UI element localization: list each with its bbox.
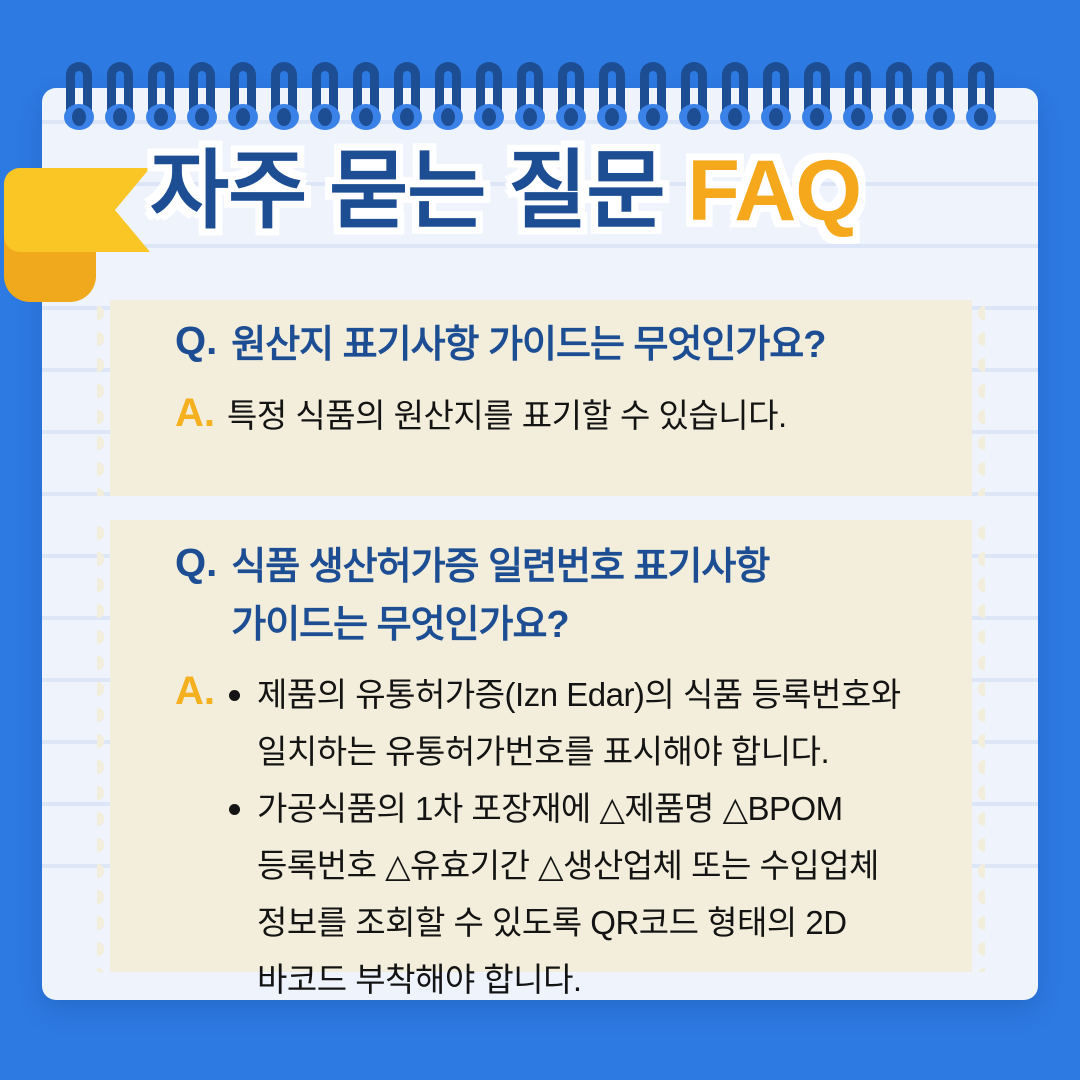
spiral-ring bbox=[435, 62, 461, 124]
spiral-ring bbox=[927, 62, 953, 124]
ring-pin bbox=[564, 108, 578, 126]
spiral-ring bbox=[66, 62, 92, 124]
spiral-ring bbox=[722, 62, 748, 124]
ring-pin bbox=[605, 108, 619, 126]
spiral-ring bbox=[804, 62, 830, 124]
ribbon-banner bbox=[0, 168, 160, 272]
answer-text: 특정 식품의 원산지를 표기할 수 있습니다. bbox=[227, 388, 787, 444]
answer-bullet-list: 제품의 유통허가증(Izn Edar)의 식품 등록번호와 일치하는 유통허가번… bbox=[227, 666, 901, 1008]
rule-line bbox=[42, 244, 1038, 248]
spiral-ring bbox=[968, 62, 994, 124]
spiral-ring bbox=[271, 62, 297, 124]
question-row: Q. 원산지 표기사항 가이드는 무엇인가요? bbox=[175, 316, 825, 374]
answer-marker: A. bbox=[175, 666, 215, 716]
bullet-line: 바코드 부착해야 합니다. bbox=[257, 961, 582, 998]
spiral-ring bbox=[148, 62, 174, 124]
bullet-line: 등록번호 △유효기간 △생산업체 또는 수입업체 bbox=[257, 847, 879, 884]
ring-pin bbox=[933, 108, 947, 126]
spiral-ring bbox=[681, 62, 707, 124]
answer-row: A. 제품의 유통허가증(Izn Edar)의 식품 등록번호와 일치하는 유통… bbox=[175, 666, 901, 1008]
bullet-line: 제품의 유통허가증(Izn Edar)의 식품 등록번호와 bbox=[257, 676, 901, 713]
ring-pin bbox=[687, 108, 701, 126]
ring-pin bbox=[974, 108, 988, 126]
spiral-ring bbox=[189, 62, 215, 124]
faq-item-1: Q. 원산지 표기사항 가이드는 무엇인가요? A. 특정 식품의 원산지를 표… bbox=[175, 316, 825, 444]
question-text: 원산지 표기사항 가이드는 무엇인가요? bbox=[231, 316, 825, 374]
ring-pin bbox=[892, 108, 906, 126]
ring-pin bbox=[277, 108, 291, 126]
ring-pin bbox=[154, 108, 168, 126]
spiral-ring bbox=[599, 62, 625, 124]
ring-pin bbox=[769, 108, 783, 126]
ring-pin bbox=[851, 108, 865, 126]
ring-pin bbox=[523, 108, 537, 126]
list-item: 제품의 유통허가증(Izn Edar)의 식품 등록번호와 일치하는 유통허가번… bbox=[257, 666, 901, 780]
spiral-ring bbox=[640, 62, 666, 124]
ring-pin bbox=[318, 108, 332, 126]
ring-pin bbox=[728, 108, 742, 126]
spiral-ring bbox=[845, 62, 871, 124]
faq-item-2: Q. 식품 생산허가증 일련번호 표기사항 가이드는 무엇인가요? A. 제품의… bbox=[175, 538, 901, 1008]
title-accent-faq: FAQ bbox=[687, 143, 861, 239]
page-title: 자주 묻는 질문 FAQ bbox=[150, 148, 861, 234]
bullet-line: 가공식품의 1차 포장재에 △제품명 △BPOM bbox=[257, 790, 843, 827]
spiral-ring bbox=[886, 62, 912, 124]
question-line-1: 식품 생산허가증 일련번호 표기사항 bbox=[231, 546, 769, 588]
bullet-line: 일치하는 유통허가번호를 표시해야 합니다. bbox=[257, 733, 829, 770]
ring-pin bbox=[359, 108, 373, 126]
question-text: 식품 생산허가증 일련번호 표기사항 가이드는 무엇인가요? bbox=[231, 538, 769, 654]
question-marker: Q. bbox=[175, 538, 217, 588]
ring-pin bbox=[195, 108, 209, 126]
spiral-ring bbox=[312, 62, 338, 124]
list-item: 가공식품의 1차 포장재에 △제품명 △BPOM 등록번호 △유효기간 △생산업… bbox=[257, 780, 901, 1008]
answer-row: A. 특정 식품의 원산지를 표기할 수 있습니다. bbox=[175, 388, 825, 444]
spiral-ring bbox=[517, 62, 543, 124]
ring-pin bbox=[72, 108, 86, 126]
title-main: 자주 묻는 질문 bbox=[150, 143, 687, 239]
bullet-line: 정보를 조회할 수 있도록 QR코드 형태의 2D bbox=[257, 904, 847, 941]
spiral-ring bbox=[353, 62, 379, 124]
spiral-ring bbox=[476, 62, 502, 124]
infographic-canvas: 자주 묻는 질문 FAQ Q. 원산지 표기사항 가이드는 무엇인가요? A. … bbox=[0, 0, 1080, 1080]
ring-pin bbox=[646, 108, 660, 126]
spiral-ring bbox=[763, 62, 789, 124]
answer-marker: A. bbox=[175, 388, 215, 438]
ring-pin bbox=[113, 108, 127, 126]
spiral-binding bbox=[0, 0, 1080, 160]
question-marker: Q. bbox=[175, 316, 217, 366]
torn-edge-left bbox=[97, 300, 111, 496]
spiral-ring bbox=[107, 62, 133, 124]
ring-pin bbox=[810, 108, 824, 126]
ring-pin bbox=[400, 108, 414, 126]
ring-pin bbox=[236, 108, 250, 126]
ribbon-band bbox=[4, 168, 150, 252]
spiral-ring bbox=[230, 62, 256, 124]
ring-pin bbox=[482, 108, 496, 126]
torn-edge-left bbox=[97, 520, 111, 972]
question-line-2: 가이드는 무엇인가요? bbox=[231, 604, 568, 646]
spiral-ring bbox=[558, 62, 584, 124]
torn-edge-right bbox=[971, 300, 985, 496]
torn-edge-right bbox=[971, 520, 985, 972]
ring-pin bbox=[441, 108, 455, 126]
question-row: Q. 식품 생산허가증 일련번호 표기사항 가이드는 무엇인가요? bbox=[175, 538, 901, 654]
spiral-ring bbox=[394, 62, 420, 124]
